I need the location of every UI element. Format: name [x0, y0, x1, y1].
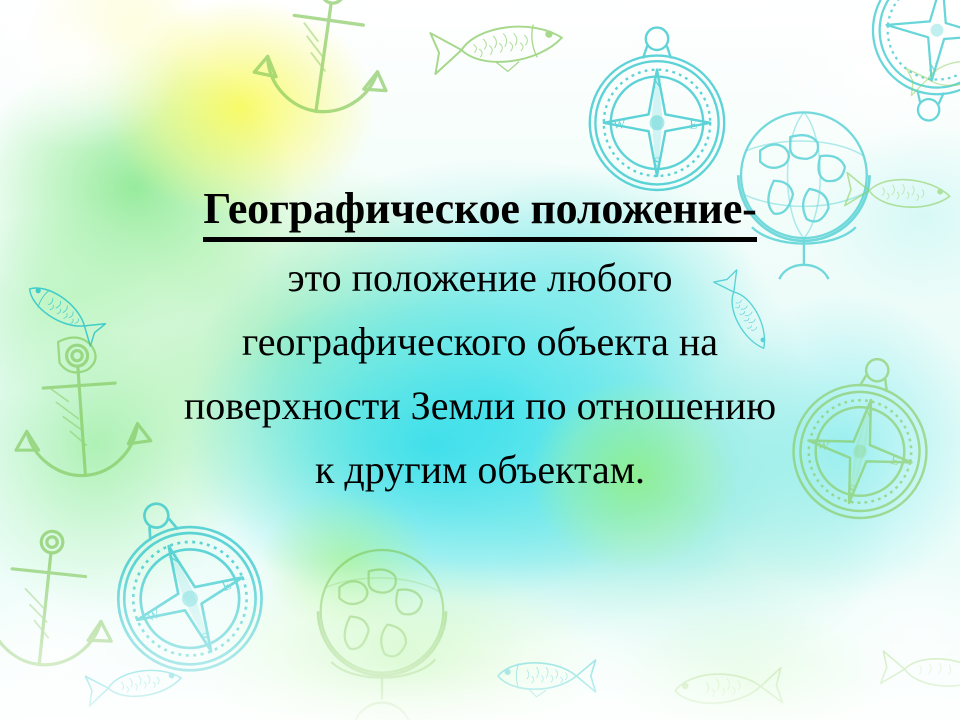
body-line-2: географического объекта на	[0, 322, 960, 362]
fish-icon	[897, 43, 960, 105]
fish-icon	[639, 658, 782, 719]
page-title: Географическое положение-	[203, 186, 756, 242]
anchor-icon	[216, 0, 431, 168]
svg-text:W: W	[613, 117, 625, 131]
svg-text:W: W	[144, 606, 162, 625]
svg-text:S: S	[199, 629, 212, 646]
compass-icon: N E S W	[66, 465, 306, 712]
svg-text:N: N	[652, 77, 661, 91]
slide-text-block: Географическое положение- это положение …	[0, 186, 960, 490]
fish-icon	[466, 652, 594, 700]
compass-icon: N S	[847, 0, 960, 135]
body-line-3: поверхности Земли по отношению	[0, 386, 960, 426]
fish-icon	[417, 4, 588, 86]
svg-text:S: S	[653, 155, 660, 169]
body-line-1: это положение любого	[0, 258, 960, 298]
anchor-icon	[0, 505, 147, 720]
svg-text:N: N	[167, 551, 182, 569]
globe-icon	[292, 534, 480, 720]
body-line-4: к другим объектам.	[0, 450, 960, 490]
presentation-slide: N E S W N S	[0, 0, 960, 720]
fish-icon	[870, 640, 960, 703]
svg-text:N: N	[928, 60, 938, 75]
fish-icon	[75, 650, 201, 718]
svg-text:E: E	[220, 577, 233, 594]
svg-text:E: E	[690, 117, 698, 131]
compass-icon: N E S W	[572, 22, 742, 204]
